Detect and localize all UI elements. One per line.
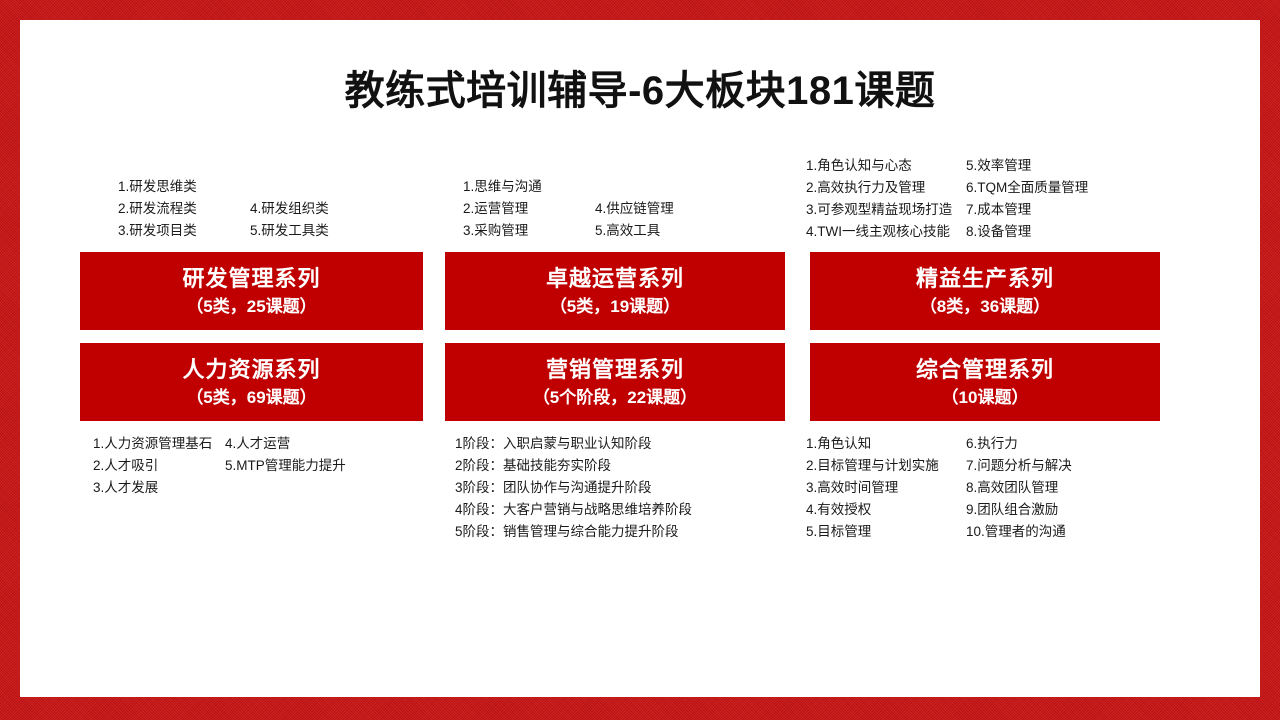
series-subtitle: （5类，69课题） xyxy=(186,385,316,410)
series-name: 营销管理系列 xyxy=(546,355,684,385)
series-name: 研发管理系列 xyxy=(182,264,320,294)
detail-item: 5.效率管理 xyxy=(966,155,1031,177)
detail-row: 1.角色认知 6.执行力 xyxy=(806,433,1072,455)
detail-row: 2.研发流程类 4.研发组织类 xyxy=(118,198,329,220)
detail-item: 2.运营管理 xyxy=(463,198,595,220)
series-name: 人力资源系列 xyxy=(182,355,320,385)
detail-item: 10.管理者的沟通 xyxy=(966,521,1066,543)
detail-item: 8.高效团队管理 xyxy=(966,477,1058,499)
detail-row: 1.研发思维类 xyxy=(118,176,329,198)
detail-list-general: 1.角色认知 6.执行力 2.目标管理与计划实施 7.问题分析与解决 3.高效时… xyxy=(806,433,1072,543)
detail-item: 5.MTP管理能力提升 xyxy=(225,455,346,477)
detail-item: 7.成本管理 xyxy=(966,199,1031,221)
detail-row: 1阶段：入职启蒙与职业认知阶段 xyxy=(455,433,692,455)
series-subtitle: （10课题） xyxy=(942,385,1029,410)
detail-item: 4.人才运营 xyxy=(225,433,290,455)
series-box-hr[interactable]: 人力资源系列 （5类，69课题） xyxy=(80,343,423,421)
detail-row: 1.思维与沟通 xyxy=(463,176,674,198)
series-subtitle: （5类，19课题） xyxy=(550,294,680,319)
detail-item: 4.有效授权 xyxy=(806,499,966,521)
detail-item: 2.高效执行力及管理 xyxy=(806,177,966,199)
detail-item: 6.执行力 xyxy=(966,433,1018,455)
series-box-lean[interactable]: 精益生产系列 （8类，36课题） xyxy=(810,252,1160,330)
detail-row: 2.运营管理 4.供应链管理 xyxy=(463,198,674,220)
detail-item: 5.研发工具类 xyxy=(250,220,329,242)
page-title: 教练式培训辅导-6大板块181课题 xyxy=(0,58,1280,116)
detail-item: 1.人力资源管理基石 xyxy=(93,433,225,455)
detail-item: 7.问题分析与解决 xyxy=(966,455,1072,477)
detail-row: 2阶段：基础技能夯实阶段 xyxy=(455,455,692,477)
detail-row: 2.目标管理与计划实施 7.问题分析与解决 xyxy=(806,455,1072,477)
detail-row: 3阶段：团队协作与沟通提升阶段 xyxy=(455,477,692,499)
series-subtitle: （8类，36课题） xyxy=(920,294,1050,319)
detail-row: 3.人才发展 xyxy=(93,477,346,499)
series-subtitle: （5个阶段，22课题） xyxy=(533,385,697,410)
detail-item: 5.目标管理 xyxy=(806,521,966,543)
detail-item: 5阶段：销售管理与综合能力提升阶段 xyxy=(455,521,679,543)
detail-item: 2.目标管理与计划实施 xyxy=(806,455,966,477)
series-name: 精益生产系列 xyxy=(916,264,1054,294)
detail-list-rd: 1.研发思维类 2.研发流程类 4.研发组织类 3.研发项目类 5.研发工具类 xyxy=(118,176,329,242)
detail-item: 9.团队组合激励 xyxy=(966,499,1058,521)
slide-canvas: 教练式培训辅导-6大板块181课题 1.研发思维类 2.研发流程类 4.研发组织… xyxy=(0,0,1280,720)
detail-list-marketing: 1阶段：入职启蒙与职业认知阶段 2阶段：基础技能夯实阶段 3阶段：团队协作与沟通… xyxy=(455,433,692,543)
series-box-rd[interactable]: 研发管理系列 （5类，25课题） xyxy=(80,252,423,330)
detail-item: 3.可参观型精益现场打造 xyxy=(806,199,966,221)
detail-row: 5.目标管理 10.管理者的沟通 xyxy=(806,521,1072,543)
detail-item: 2.人才吸引 xyxy=(93,455,225,477)
frame-border-top xyxy=(0,0,1280,20)
detail-list-lean: 1.角色认知与心态 5.效率管理 2.高效执行力及管理 6.TQM全面质量管理 … xyxy=(806,155,1088,243)
detail-item: 6.TQM全面质量管理 xyxy=(966,177,1088,199)
detail-item: 4阶段：大客户营销与战略思维培养阶段 xyxy=(455,499,692,521)
detail-item: 5.高效工具 xyxy=(595,220,660,242)
detail-row: 3.可参观型精益现场打造 7.成本管理 xyxy=(806,199,1088,221)
detail-list-hr: 1.人力资源管理基石 4.人才运营 2.人才吸引 5.MTP管理能力提升 3.人… xyxy=(93,433,346,499)
detail-item: 1.思维与沟通 xyxy=(463,176,595,198)
series-subtitle: （5类，25课题） xyxy=(186,294,316,319)
detail-row: 1.人力资源管理基石 4.人才运营 xyxy=(93,433,346,455)
detail-item: 3.高效时间管理 xyxy=(806,477,966,499)
detail-item: 3阶段：团队协作与沟通提升阶段 xyxy=(455,477,652,499)
series-box-general[interactable]: 综合管理系列 （10课题） xyxy=(810,343,1160,421)
detail-row: 3.研发项目类 5.研发工具类 xyxy=(118,220,329,242)
detail-item: 1.角色认知 xyxy=(806,433,966,455)
detail-row: 2.高效执行力及管理 6.TQM全面质量管理 xyxy=(806,177,1088,199)
detail-item: 4.TWI一线主观核心技能 xyxy=(806,221,966,243)
detail-item: 1阶段：入职启蒙与职业认知阶段 xyxy=(455,433,652,455)
series-name: 卓越运营系列 xyxy=(546,264,684,294)
detail-row: 4.有效授权 9.团队组合激励 xyxy=(806,499,1072,521)
detail-row: 2.人才吸引 5.MTP管理能力提升 xyxy=(93,455,346,477)
detail-row: 4.TWI一线主观核心技能 8.设备管理 xyxy=(806,221,1088,243)
frame-border-bottom xyxy=(0,697,1280,720)
series-box-marketing[interactable]: 营销管理系列 （5个阶段，22课题） xyxy=(445,343,785,421)
detail-item: 2.研发流程类 xyxy=(118,198,250,220)
detail-item: 2阶段：基础技能夯实阶段 xyxy=(455,455,611,477)
series-box-ops[interactable]: 卓越运营系列 （5类，19课题） xyxy=(445,252,785,330)
detail-row: 4阶段：大客户营销与战略思维培养阶段 xyxy=(455,499,692,521)
series-name: 综合管理系列 xyxy=(916,355,1054,385)
detail-row: 3.高效时间管理 8.高效团队管理 xyxy=(806,477,1072,499)
detail-item: 1.研发思维类 xyxy=(118,176,250,198)
detail-item: 8.设备管理 xyxy=(966,221,1031,243)
detail-row: 1.角色认知与心态 5.效率管理 xyxy=(806,155,1088,177)
detail-item: 4.供应链管理 xyxy=(595,198,674,220)
detail-item: 3.研发项目类 xyxy=(118,220,250,242)
detail-item: 1.角色认知与心态 xyxy=(806,155,966,177)
detail-list-ops: 1.思维与沟通 2.运营管理 4.供应链管理 3.采购管理 5.高效工具 xyxy=(463,176,674,242)
detail-item: 3.采购管理 xyxy=(463,220,595,242)
detail-item: 3.人才发展 xyxy=(93,477,225,499)
detail-item: 4.研发组织类 xyxy=(250,198,329,220)
detail-row: 3.采购管理 5.高效工具 xyxy=(463,220,674,242)
detail-row: 5阶段：销售管理与综合能力提升阶段 xyxy=(455,521,692,543)
